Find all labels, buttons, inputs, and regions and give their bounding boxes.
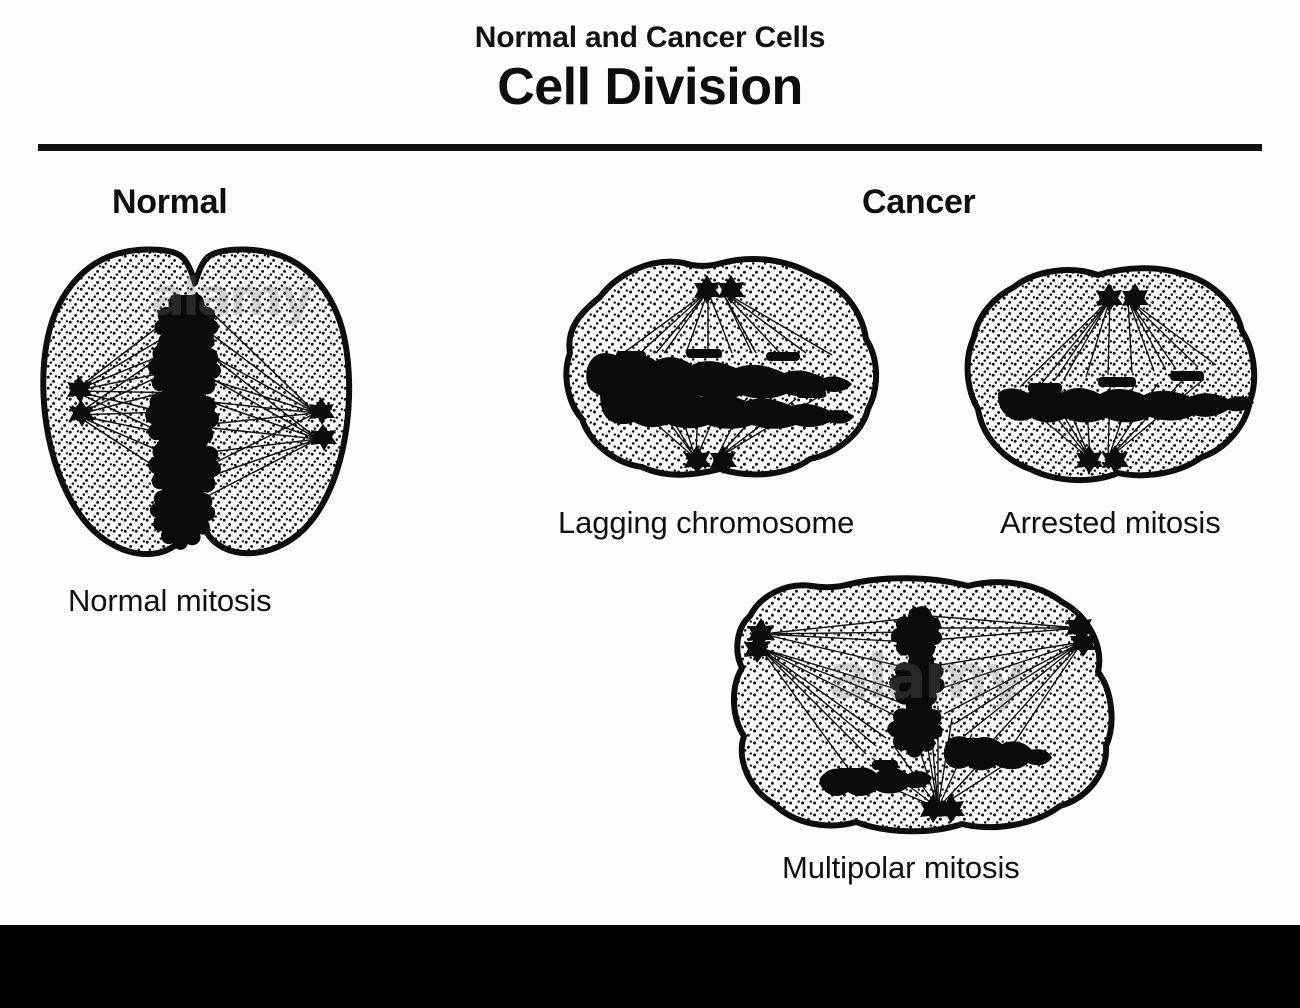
caption-normal-mitosis: Normal mitosis [68, 583, 272, 619]
stock-watermark-bar: alamy Image ID: KJ2TWJ www.alamy.com [0, 925, 1300, 1008]
diagram-page: Normal and Cancer Cells Cell Division No… [0, 0, 1300, 1008]
page-title: Cell Division [0, 54, 1300, 115]
subtitle: Normal and Cancer Cells [0, 0, 1300, 54]
chromosomes-metaphase-plate [145, 294, 221, 550]
caption-arrested-mitosis: Arrested mitosis [1000, 505, 1221, 541]
caption-multipolar-mitosis: Multipolar mitosis [782, 850, 1020, 886]
caption-lagging-chromosome: Lagging chromosome [558, 505, 854, 541]
figure-lagging-chromosome [556, 253, 886, 498]
figure-normal-mitosis [24, 243, 364, 563]
figure-multipolar-mitosis [716, 572, 1126, 844]
header-divider [38, 144, 1262, 151]
column-heading-cancer: Cancer [862, 183, 975, 222]
column-heading-normal: Normal [112, 183, 227, 222]
chromosome-arm-vertical [887, 606, 944, 757]
chromosome-band-lower [600, 386, 854, 429]
page-header: Normal and Cancer Cells Cell Division [0, 0, 1300, 114]
figure-arrested-mitosis [958, 263, 1264, 499]
